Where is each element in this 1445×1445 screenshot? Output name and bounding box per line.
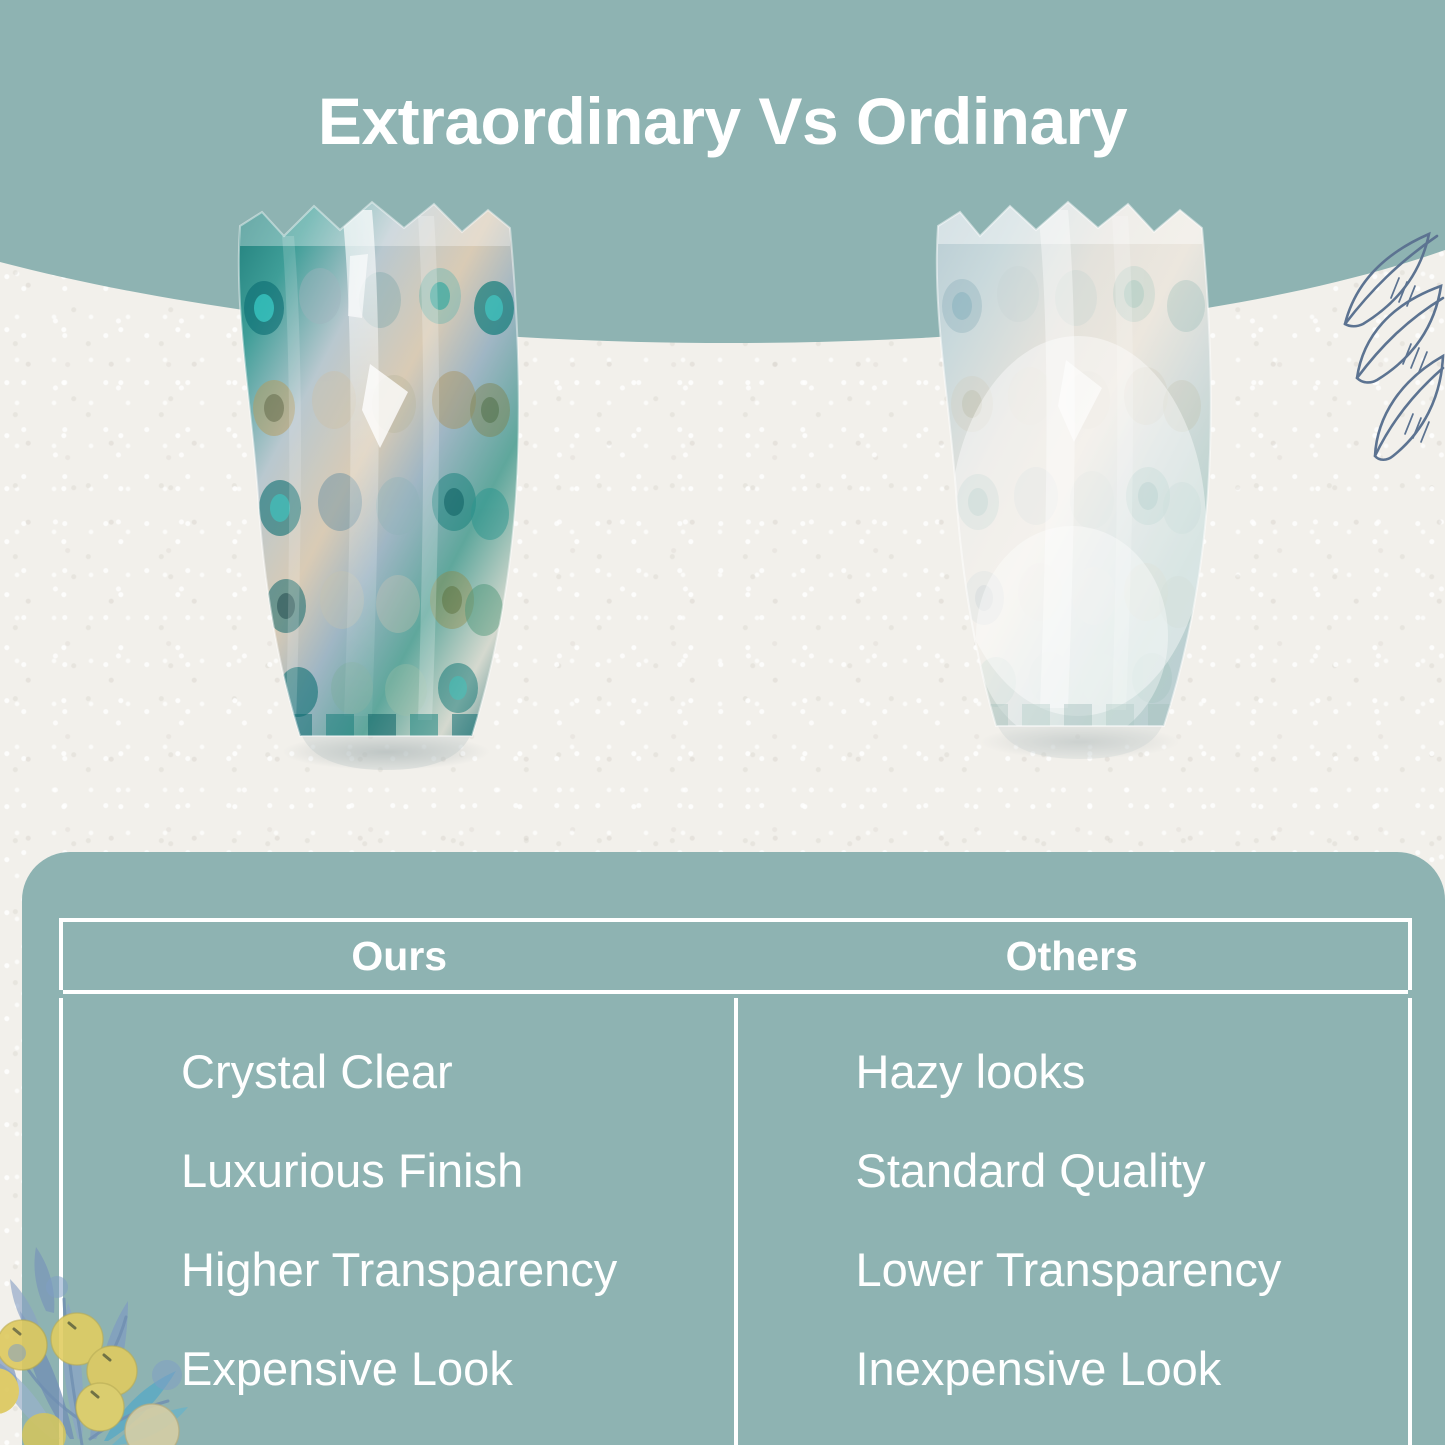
accent-dot [152,1360,182,1390]
others-column: Hazy looks Standard Quality Lower Transp… [738,998,1409,1445]
infographic-canvas: Extraordinary Vs Ordinary [0,0,1445,1445]
table-body: Crystal Clear Luxurious Finish Higher Tr… [59,998,1412,1445]
table-header-row: Ours Others [59,918,1412,990]
column-header-ours: Ours [63,922,736,990]
table-row: Hazy looks [856,1045,1409,1099]
page-title: Extraordinary Vs Ordinary [0,88,1445,154]
accent-dot [46,1276,68,1298]
table-row: Standard Quality [856,1144,1409,1198]
table-row: Lower Transparency [856,1243,1409,1297]
accent-dot [8,1344,26,1362]
table-row: Crystal Clear [181,1045,734,1099]
table-row: Expensive Look [181,1342,734,1396]
table-row: Higher Transparency [181,1243,734,1297]
table-row: Inexpensive Look [856,1342,1409,1396]
header-band [0,0,1445,360]
table-row: Luxurious Finish [181,1144,734,1198]
comparison-panel: Ours Others Crystal Clear Luxurious Fini… [22,852,1445,1445]
comparison-table: Ours Others Crystal Clear Luxurious Fini… [59,918,1412,1445]
column-header-others: Others [736,922,1409,990]
